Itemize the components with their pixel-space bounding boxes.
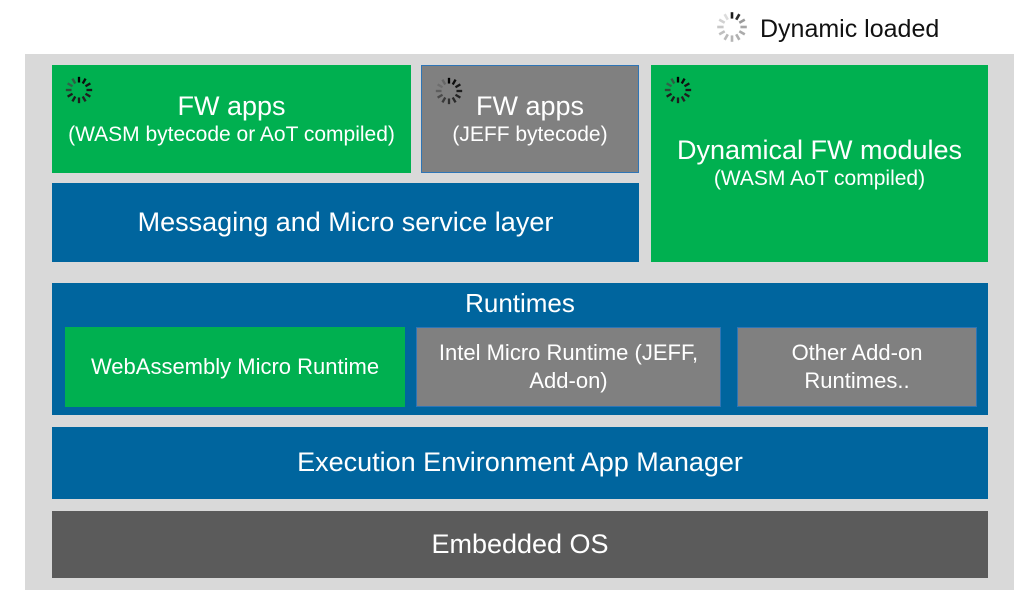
runtime-other-addon-label: Other Add-on Runtimes.. (744, 339, 970, 395)
app-manager-box: Execution Environment App Manager (52, 427, 988, 499)
runtime-intel-micro-label: Intel Micro Runtime (JEFF, Add-on) (423, 339, 714, 395)
runtime-other-addon: Other Add-on Runtimes.. (737, 327, 977, 407)
runtime-webassembly-micro: WebAssembly Micro Runtime (65, 327, 405, 407)
runtime-webassembly-micro-label: WebAssembly Micro Runtime (91, 353, 379, 381)
fw-apps-wasm-title: FW apps (177, 91, 285, 123)
app-manager-title: Execution Environment App Manager (297, 447, 743, 479)
fw-apps-wasm-subtitle: (WASM bytecode or AoT compiled) (68, 123, 395, 148)
messaging-layer-box: Messaging and Micro service layer (52, 183, 639, 262)
legend-label: Dynamic loaded (760, 17, 939, 42)
runtimes-title: Runtimes (52, 283, 988, 319)
spinner-icon (433, 75, 465, 113)
fw-apps-wasm-box: FW apps (WASM bytecode or AoT compiled) (52, 65, 411, 173)
dynamical-fw-modules-box: Dynamical FW modules (WASM AoT compiled) (651, 65, 988, 262)
dynamical-fw-modules-title: Dynamical FW modules (677, 135, 962, 167)
fw-apps-jeff-title: FW apps (476, 91, 584, 123)
embedded-os-title: Embedded OS (431, 529, 608, 561)
spinner-icon (63, 74, 95, 112)
spinner-icon (662, 74, 694, 112)
architecture-panel: FW apps (WASM bytecode or AoT compiled) (25, 54, 1014, 590)
legend: Dynamic loaded (714, 8, 1014, 50)
fw-apps-jeff-box: FW apps (JEFF bytecode) (421, 65, 639, 173)
spinner-icon (714, 9, 750, 50)
runtime-intel-micro: Intel Micro Runtime (JEFF, Add-on) (416, 327, 721, 407)
fw-apps-jeff-subtitle: (JEFF bytecode) (452, 123, 607, 148)
runtimes-box: Runtimes WebAssembly Micro Runtime Intel… (52, 283, 988, 415)
embedded-os-box: Embedded OS (52, 511, 988, 578)
dynamical-fw-modules-subtitle: (WASM AoT compiled) (714, 167, 925, 192)
messaging-layer-title: Messaging and Micro service layer (138, 207, 554, 239)
